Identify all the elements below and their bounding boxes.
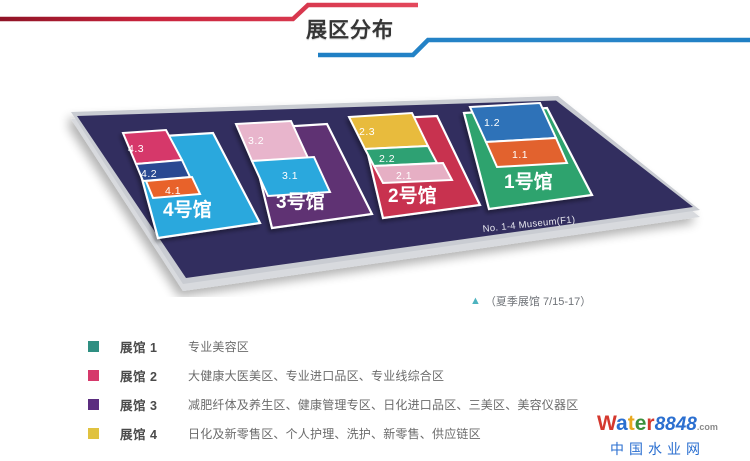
hall-1-sub-1-2-shape[interactable]	[470, 103, 556, 142]
legend-swatch-hall-1	[88, 341, 99, 352]
hall-3-sub-3-2-label: 3.2	[248, 135, 264, 147]
legend-name-hall-3: 展馆 3	[120, 395, 188, 414]
map-caption-text: （夏季展馆 7/15-17）	[485, 293, 591, 309]
hall-4-label: 4号馆	[163, 198, 212, 221]
watermark-letter-t: t	[628, 412, 635, 435]
watermark-chinese-name: 中国水业网	[597, 440, 718, 458]
hall-4-sub-4-3-label: 4.3	[128, 143, 144, 155]
hall-2-sub-2-3-label: 2.3	[359, 126, 375, 138]
watermark-tld: .com	[697, 422, 718, 432]
site-watermark: Water8848.com 中国水业网	[597, 413, 718, 458]
hall-3-sub-3-1-label: 3.1	[282, 170, 298, 182]
legend-desc-hall-3: 减肥纤体及养生区、健康管理专区、日化进口品区、三美区、美容仪器区	[188, 396, 578, 413]
watermark-letter-a: a	[616, 412, 628, 435]
legend-swatch-hall-2	[88, 370, 99, 381]
hall-2-sub-2-2-label: 2.2	[379, 153, 395, 165]
legend-desc-hall-2: 大健康大医美区、专业进口品区、专业线综合区	[188, 367, 444, 384]
watermark-number: 8848	[655, 414, 697, 435]
map-caption: ▲ （夏季展馆 7/15-17）	[470, 293, 591, 309]
legend-name-hall-4: 展馆 4	[120, 424, 188, 443]
hall-4-sub-4-1-label: 4.1	[165, 185, 181, 197]
hall-2-sub-2-1-shape[interactable]	[374, 163, 452, 183]
watermark-letter-w: W	[597, 412, 616, 435]
hall-1-sub-1-2-label: 1.2	[484, 117, 500, 129]
page-title: 展区分布	[306, 14, 394, 44]
legend-row-hall-1: 展馆 1 专业美容区	[88, 332, 688, 361]
exhibition-map: 4.3 4.2 4.1 4号馆 3.2 3.1 3号馆 2.3 2.2 2.1 …	[0, 82, 750, 297]
hall-2-label: 2号馆	[388, 184, 437, 207]
page-header: 展区分布	[0, 0, 750, 80]
map-canvas: 4.3 4.2 4.1 4号馆 3.2 3.1 3号馆 2.3 2.2 2.1 …	[0, 82, 750, 297]
watermark-letter-e: e	[635, 412, 647, 435]
hall-3-label: 3号馆	[276, 190, 325, 213]
legend-desc-hall-4: 日化及新零售区、个人护理、洗护、新零售、供应链区	[188, 425, 481, 442]
watermark-logo-text: Water8848.com	[597, 413, 718, 438]
hall-2-sub-2-1-label: 2.1	[396, 170, 412, 182]
hall-1-label: 1号馆	[504, 170, 553, 193]
legend-name-hall-1: 展馆 1	[120, 337, 188, 356]
watermark-letter-r: r	[646, 412, 654, 435]
legend-swatch-hall-4	[88, 428, 99, 439]
triangle-marker-icon: ▲	[470, 296, 481, 307]
hall-1-sub-1-1-label: 1.1	[512, 149, 528, 161]
hall-4-sub-4-2-label: 4.2	[141, 168, 157, 180]
legend-name-hall-2: 展馆 2	[120, 366, 188, 385]
legend-row-hall-2: 展馆 2 大健康大医美区、专业进口品区、专业线综合区	[88, 361, 688, 390]
legend-desc-hall-1: 专业美容区	[188, 338, 249, 355]
legend-swatch-hall-3	[88, 399, 99, 410]
